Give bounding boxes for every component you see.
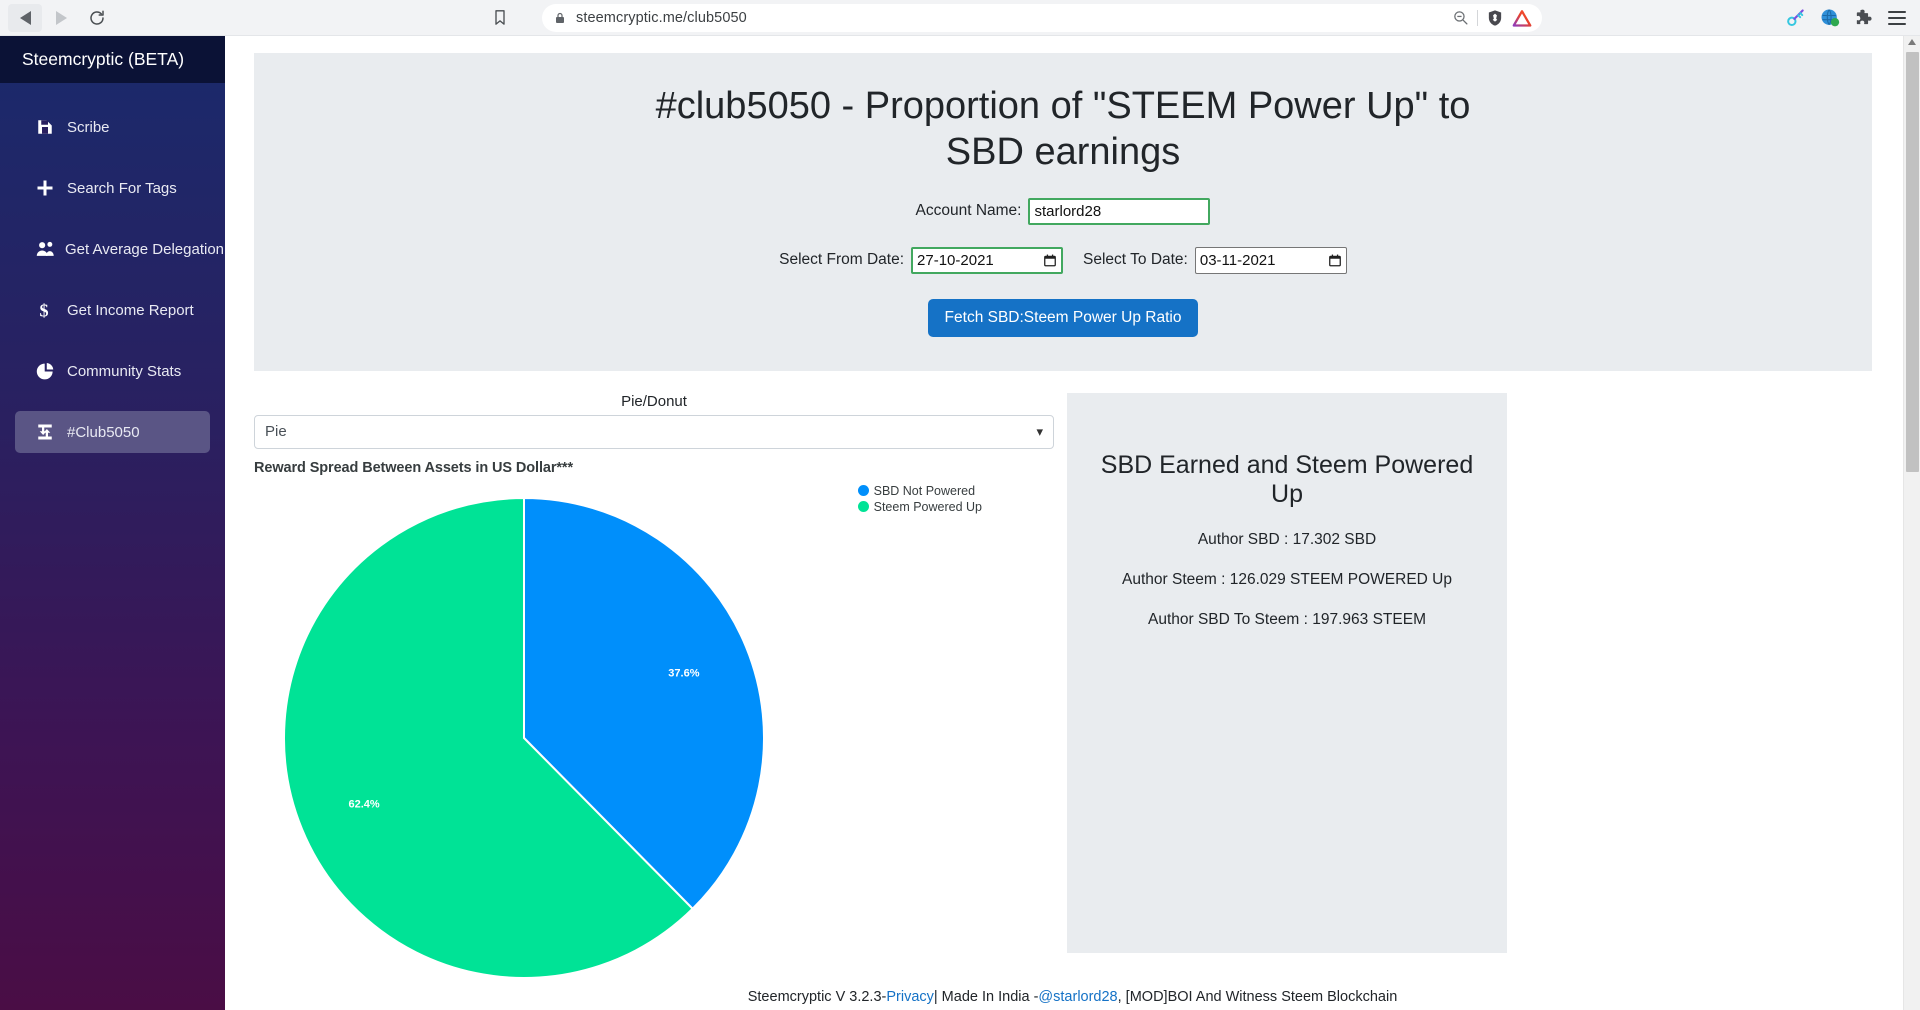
from-date-input[interactable]: 27-10-2021 <box>911 247 1063 274</box>
hamburger-menu-icon[interactable] <box>1888 11 1906 25</box>
page-footer: Steemcryptic V 3.2.3- Privacy | Made In … <box>225 983 1920 1010</box>
chart-type-label: Pie/Donut <box>254 393 1054 410</box>
footer-middle: | Made In India - <box>934 989 1039 1005</box>
chart-column: Pie/Donut Pie ▾ Reward Spread Between As… <box>254 393 1054 976</box>
sidebar-item-label: #Club5050 <box>67 424 140 441</box>
account-name-input[interactable] <box>1028 198 1210 225</box>
pie-chart-svg: 37.6% 62.4% <box>282 498 902 978</box>
back-arrow-icon <box>20 11 31 25</box>
date-range-row: Select From Date: 27-10-2021 Select To D… <box>274 247 1852 274</box>
footer-author-link[interactable]: @starlord28 <box>1038 989 1117 1005</box>
sidebar-nav: Scribe Search For Tags <box>0 83 225 453</box>
pie-data-label: 62.4% <box>348 798 379 810</box>
page-title: #club5050 - Proportion of "STEEM Power U… <box>613 83 1513 176</box>
sidebar-item-club5050[interactable]: #Club5050 <box>15 411 210 453</box>
back-button[interactable] <box>8 4 42 32</box>
sidebar-item-scribe[interactable]: Scribe <box>15 106 210 148</box>
legend-item[interactable]: SBD Not Powered <box>858 484 982 498</box>
navigation-buttons <box>0 4 114 32</box>
scrollbar-up-arrow-icon[interactable] <box>1908 39 1916 45</box>
sidebar-item-label: Community Stats <box>67 363 181 380</box>
fetch-ratio-button[interactable]: Fetch SBD:Steem Power Up Ratio <box>928 299 1199 337</box>
summary-author-steem: Author Steem : 126.029 STEEM POWERED Up <box>1087 571 1487 589</box>
puzzle-extensions-icon[interactable] <box>1854 8 1874 28</box>
omnibox-divider <box>1477 10 1478 26</box>
sidebar-item-get-income-report[interactable]: $ Get Income Report <box>15 289 210 331</box>
summary-author-sbd: Author SBD : 17.302 SBD <box>1087 531 1487 549</box>
forward-arrow-icon <box>56 11 67 25</box>
lock-icon <box>554 11 566 25</box>
globe-translate-icon[interactable] <box>1820 8 1840 28</box>
scribe-icon <box>36 118 58 136</box>
brave-rewards-triangle-icon[interactable] <box>1512 9 1532 27</box>
sidebar-brand: Steemcryptic (BETA) <box>0 36 225 83</box>
chart-type-select[interactable]: Pie ▾ <box>254 415 1054 449</box>
pie-chart-icon <box>36 362 58 381</box>
summary-author-sbd-to-steem: Author SBD To Steem : 197.963 STEEM <box>1087 611 1487 629</box>
browser-toolbar: steemcryptic.me/club5050 <box>0 0 1920 36</box>
to-date-input[interactable]: 03-11-2021 <box>1195 247 1347 274</box>
plus-icon <box>36 179 58 197</box>
sidebar-item-get-average-delegation[interactable]: Get Average Delegation <box>15 228 210 270</box>
footer-privacy-link[interactable]: Privacy <box>886 989 934 1005</box>
exchange-icon <box>36 423 58 441</box>
account-name-row: Account Name: <box>274 198 1852 225</box>
bookmark-icon[interactable] <box>492 8 508 27</box>
legend-label: SBD Not Powered <box>874 484 975 498</box>
brave-shields-icon[interactable] <box>1486 9 1504 27</box>
calendar-icon[interactable] <box>1043 253 1057 268</box>
chart-type-value: Pie <box>265 423 287 440</box>
svg-text:$: $ <box>39 301 48 320</box>
chart-title: Reward Spread Between Assets in US Dolla… <box>254 460 1054 476</box>
legend-color-swatch <box>858 485 869 496</box>
omnibox-zone: steemcryptic.me/club5050 <box>114 4 1772 32</box>
forward-button[interactable] <box>44 4 78 32</box>
scrollbar-thumb[interactable] <box>1906 52 1919 472</box>
reload-button[interactable] <box>80 4 114 32</box>
from-date-label: Select From Date: <box>779 251 904 269</box>
password-key-icon[interactable] <box>1786 8 1806 28</box>
sidebar-item-search-for-tags[interactable]: Search For Tags <box>15 167 210 209</box>
omnibox-actions <box>1452 4 1532 32</box>
users-icon <box>36 240 56 258</box>
chevron-down-icon: ▾ <box>1036 424 1043 440</box>
calendar-icon[interactable] <box>1328 253 1342 268</box>
results-section: Pie/Donut Pie ▾ Reward Spread Between As… <box>254 393 1872 976</box>
browser-extensions-area <box>1772 8 1920 28</box>
sidebar-item-community-stats[interactable]: Community Stats <box>15 350 210 392</box>
footer-prefix: Steemcryptic V 3.2.3- <box>748 989 887 1005</box>
pie-data-label: 37.6% <box>668 667 699 679</box>
sidebar-item-label: Search For Tags <box>67 180 177 197</box>
sidebar-item-label: Get Average Delegation <box>65 241 224 258</box>
reload-icon <box>88 9 106 27</box>
footer-suffix: , [MOD]BOI And Witness Steem Blockchain <box>1118 989 1398 1005</box>
to-date-label: Select To Date: <box>1083 251 1188 269</box>
url-text: steemcryptic.me/club5050 <box>576 10 747 26</box>
sidebar: Steemcryptic (BETA) Scribe <box>0 36 225 1010</box>
hero-panel: #club5050 - Proportion of "STEEM Power U… <box>254 53 1872 371</box>
page-scrollbar[interactable] <box>1903 36 1920 1010</box>
from-date-value: 27-10-2021 <box>917 252 994 269</box>
sidebar-item-label: Scribe <box>67 119 110 136</box>
sidebar-item-label: Get Income Report <box>67 302 194 319</box>
address-bar[interactable]: steemcryptic.me/club5050 <box>542 4 1542 32</box>
dollar-icon: $ <box>36 301 58 320</box>
page-viewport: Steemcryptic (BETA) Scribe <box>0 36 1920 1010</box>
account-name-label: Account Name: <box>916 202 1022 220</box>
pie-chart: SBD Not Powered Steem Powered Up 37.6% <box>254 476 1054 976</box>
main-content: #club5050 - Proportion of "STEEM Power U… <box>225 36 1905 1010</box>
to-date-value: 03-11-2021 <box>1200 252 1276 269</box>
zoom-out-icon[interactable] <box>1452 9 1469 26</box>
summary-panel: SBD Earned and Steem Powered Up Author S… <box>1067 393 1507 953</box>
summary-heading: SBD Earned and Steem Powered Up <box>1087 451 1487 509</box>
